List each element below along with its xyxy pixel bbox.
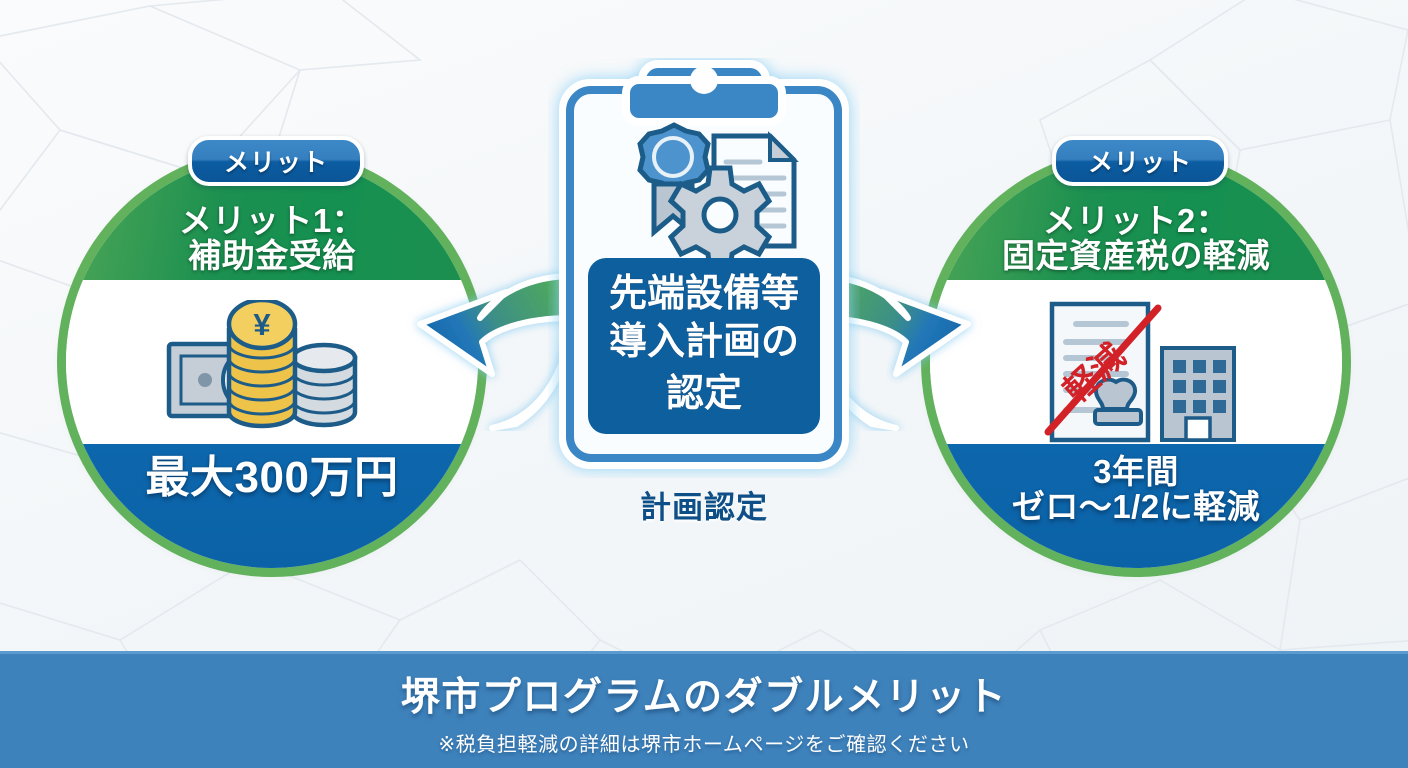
merit-2-value: 3年間 ゼロ～1/2に軽減 [1002,454,1270,525]
bottom-banner: 堺市プログラムのダブルメリット ※税負担軽減の詳細は堺市ホームページをご確認くだ… [0,651,1408,768]
merit-2-value-line-1: 3年間 [1012,454,1260,489]
merit-1-title: メリット1： 補助金受給 [165,203,379,274]
merit-1-title-line-2: 補助金受給 [179,238,365,274]
clipboard-clip [626,64,782,122]
merit-1-value-band: 最大300万円 [66,444,478,568]
money-icon: ¥ [165,300,381,435]
svg-text:先端設備等: 先端設備等 [609,273,799,315]
merit-1-title-line-1: メリット1： [179,203,365,239]
merit-2-title: メリット2： 固定資産税の軽減 [988,203,1284,274]
banner-title: 堺市プログラムのダブルメリット [401,666,1007,722]
merit-2-title-line-2: 固定資産税の軽減 [1002,238,1270,274]
merit-1-badge: メリット [188,136,364,186]
svg-text:導入計画の: 導入計画の [609,321,799,363]
infographic-canvas: メリット1： 補助金受給 最大300万円 メリット [0,0,1408,768]
yen-symbol: ¥ [253,307,271,342]
plan-certification-clipboard: 先端設備等 導入計画の 認定 [548,58,860,483]
merit-2-value-band: 3年間 ゼロ～1/2に軽減 [930,444,1342,568]
merit-2-value-line-2: ゼロ～1/2に軽減 [1012,489,1260,524]
merit-2-title-line-1: メリット2： [1002,203,1270,239]
banner-note: ※税負担軽減の詳細は堺市ホームページをご確認ください [438,728,969,757]
svg-text:認定: 認定 [666,373,742,415]
merit-2-badge-label: メリット [1088,143,1192,179]
gold-coin-stack-icon: ¥ [229,300,295,426]
merit-2-badge: メリット [1052,136,1228,186]
merit-1-value: 最大300万円 [136,454,409,501]
tax-reduction-icon: 軽減 [1040,300,1240,450]
silver-coin-stack-icon [293,345,355,425]
clipboard-caption: 計画認定 [548,482,860,527]
merit-1-badge-label: メリット [224,143,328,179]
building-icon [1162,348,1234,440]
